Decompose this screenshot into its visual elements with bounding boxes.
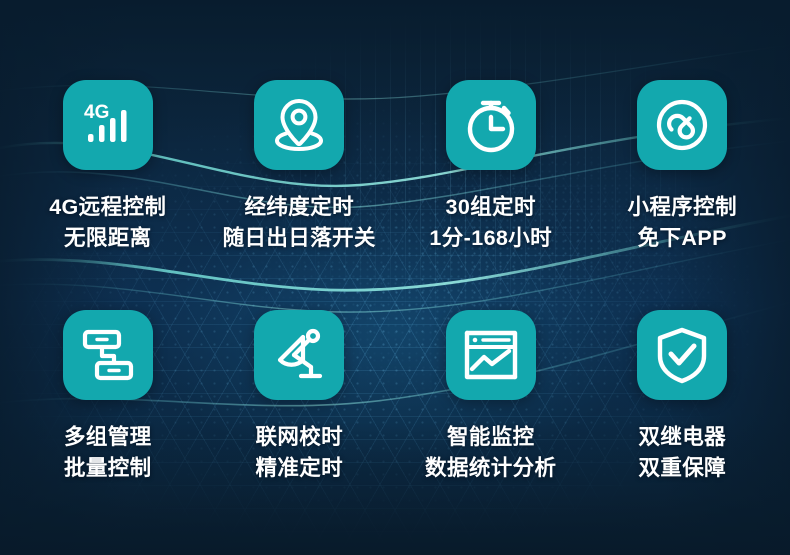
feature-item-miniprogram[interactable]: 小程序控制 免下APP: [587, 80, 779, 310]
stopwatch-icon: [463, 96, 519, 154]
feature-tile: [637, 310, 727, 400]
feature-tile: [446, 310, 536, 400]
feature-tile: [63, 310, 153, 400]
feature-caption-line1: 智能监控: [447, 425, 535, 449]
feature-caption-line1: 联网校时: [255, 425, 343, 449]
svg-text:4G: 4G: [84, 102, 109, 123]
feature-caption: 小程序控制 免下APP: [627, 192, 737, 253]
feature-item-time-sync[interactable]: 联网校时 精准定时: [204, 310, 396, 540]
feature-caption-line2: 随日出日落开关: [223, 223, 376, 254]
feature-caption-line2: 免下APP: [627, 223, 737, 254]
signal-4g-icon: 4G: [80, 97, 136, 153]
feature-item-timer-groups[interactable]: 30组定时 1分-168小时: [395, 80, 587, 310]
feature-caption-line1: 4G远程控制: [49, 195, 166, 219]
feature-tile: 4G: [63, 80, 153, 170]
feature-caption-line1: 30组定时: [446, 195, 536, 219]
feature-tile: [254, 80, 344, 170]
feature-caption-line2: 无限距离: [49, 223, 166, 254]
feature-caption-line2: 批量控制: [64, 453, 152, 484]
feature-caption-line1: 双继电器: [638, 425, 726, 449]
feature-caption-line1: 多组管理: [64, 425, 152, 449]
feature-caption-line2: 1分-168小时: [429, 223, 552, 254]
feature-caption: 4G远程控制 无限距离: [49, 192, 166, 253]
feature-caption: 联网校时 精准定时: [255, 422, 343, 483]
feature-item-dual-relay[interactable]: 双继电器 双重保障: [587, 310, 779, 540]
feature-caption-line2: 数据统计分析: [425, 453, 556, 484]
feature-poster: 4G 4G远程控制 无限距离: [0, 0, 790, 555]
feature-tile: [637, 80, 727, 170]
feature-item-4g[interactable]: 4G 4G远程控制 无限距离: [12, 80, 204, 310]
feature-caption: 经纬度定时 随日出日落开关: [223, 192, 376, 253]
feature-caption: 双继电器 双重保障: [638, 422, 726, 483]
feature-caption-line2: 精准定时: [255, 453, 343, 484]
feature-item-monitoring[interactable]: 智能监控 数据统计分析: [395, 310, 587, 540]
server-group-icon: [80, 327, 136, 383]
feature-tile: [254, 310, 344, 400]
feature-grid: 4G 4G远程控制 无限距离: [0, 0, 790, 555]
wechat-miniprogram-icon: [653, 96, 711, 154]
feature-caption: 多组管理 批量控制: [64, 422, 152, 483]
location-pin-icon: [270, 96, 328, 154]
feature-caption: 智能监控 数据统计分析: [425, 422, 556, 483]
feature-caption-line1: 经纬度定时: [244, 195, 354, 219]
feature-caption-line1: 小程序控制: [627, 195, 737, 219]
chart-monitor-icon: [463, 329, 519, 381]
feature-item-group-manage[interactable]: 多组管理 批量控制: [12, 310, 204, 540]
satellite-dish-icon: [270, 327, 328, 383]
feature-caption: 30组定时 1分-168小时: [429, 192, 552, 253]
feature-caption-line2: 双重保障: [638, 453, 726, 484]
feature-tile: [446, 80, 536, 170]
feature-item-geo-timer[interactable]: 经纬度定时 随日出日落开关: [204, 80, 396, 310]
shield-check-icon: [655, 326, 709, 384]
